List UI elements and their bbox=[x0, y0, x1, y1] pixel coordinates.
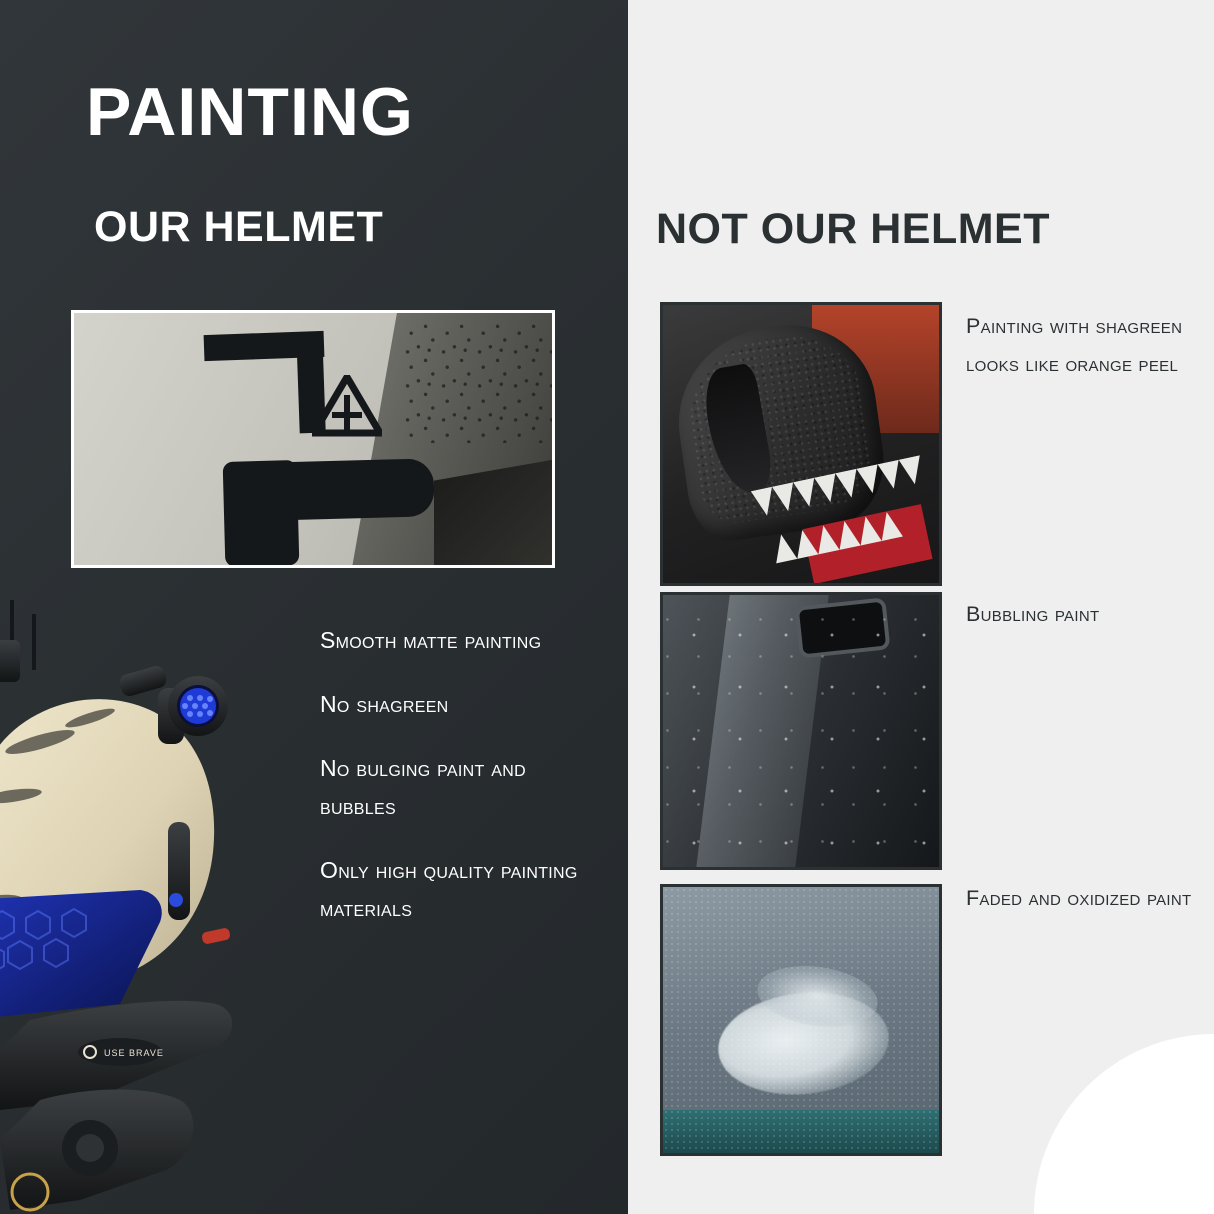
bullet-item: Only high quality painting materials bbox=[320, 852, 600, 928]
tactical-helmet-illustration: USE BRAVE bbox=[0, 600, 300, 1214]
status-led bbox=[169, 893, 183, 907]
brand-triangle-icon bbox=[312, 375, 382, 437]
bullet-item: No shagreen bbox=[320, 686, 600, 724]
not-our-helmet-panel: NOT OUR HELMET bbox=[628, 0, 1214, 1214]
photo2-caption: Bubbling paint bbox=[966, 596, 1201, 634]
our-helmet-bullet-list: Smooth matte painting No shagreen No bul… bbox=[320, 622, 600, 928]
photo3-grain bbox=[663, 887, 939, 1153]
faded-oxidized-paint-photo bbox=[660, 884, 942, 1156]
infographic-page: PAINTING OUR HELMET Smooth matte paintin… bbox=[0, 0, 1214, 1214]
photo3-caption: Faded and oxidized paint bbox=[966, 880, 1201, 918]
bullet-item: No bulging paint and bubbles bbox=[320, 750, 600, 826]
paint-bubble-texture bbox=[663, 595, 939, 867]
helmet-visor bbox=[0, 890, 162, 1020]
bullet-item: Smooth matte painting bbox=[320, 622, 600, 660]
paint-speck-texture bbox=[404, 323, 554, 443]
our-helmet-photo bbox=[71, 310, 555, 568]
bubbling-paint-photo bbox=[660, 592, 942, 870]
page-title: PAINTING bbox=[86, 78, 414, 146]
not-our-helmet-title: NOT OUR HELMET bbox=[656, 208, 1050, 251]
svg-text:USE BRAVE: USE BRAVE bbox=[104, 1048, 164, 1058]
our-helmet-panel: PAINTING OUR HELMET Smooth matte paintin… bbox=[0, 0, 628, 1214]
our-helmet-subtitle: OUR HELMET bbox=[94, 206, 383, 249]
painted-bar-head bbox=[223, 460, 300, 567]
photo1-caption: Painting with shagreen looks like orange… bbox=[966, 308, 1201, 383]
helmet-antennas bbox=[0, 600, 36, 682]
corner-accent-shape bbox=[1034, 1034, 1214, 1214]
red-accent-tab bbox=[201, 927, 231, 945]
shark-mouth-helmet-photo bbox=[660, 302, 942, 586]
